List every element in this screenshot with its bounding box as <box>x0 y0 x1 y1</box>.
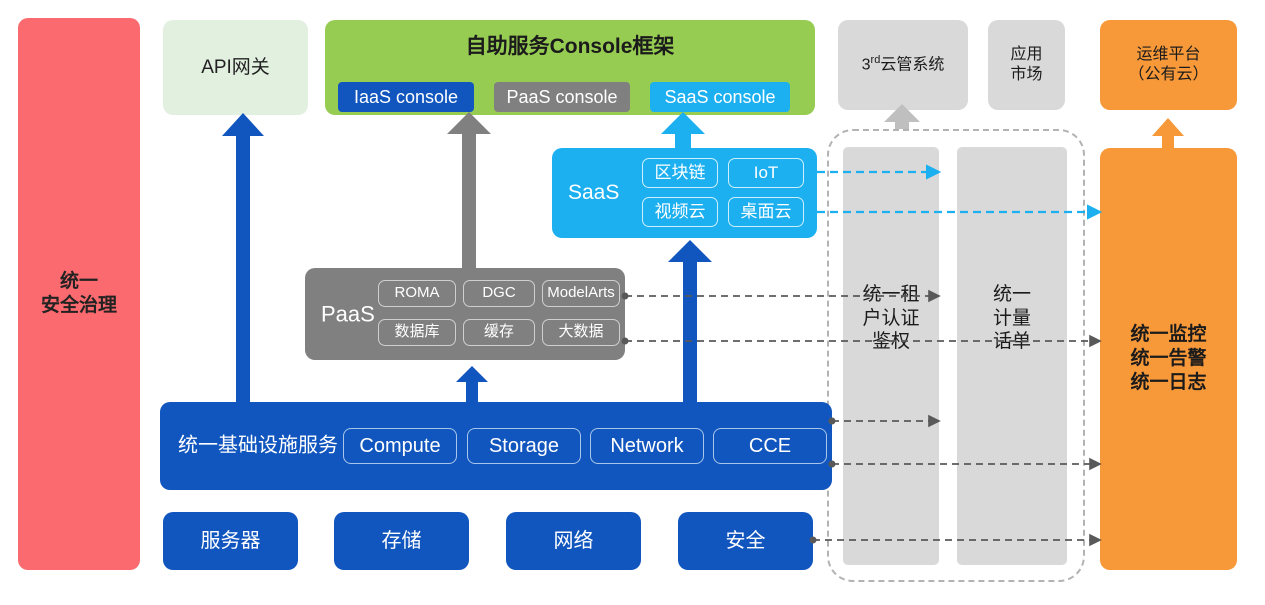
paas-item-database-label: 数据库 <box>394 323 439 342</box>
ops-platform-line-2: （公有云） <box>1128 65 1208 85</box>
hardware-box-storage: 存储 <box>334 512 469 570</box>
arrow-ops-panel-to-platform <box>1152 118 1184 148</box>
paas-console-chip[interactable]: PaaS console <box>494 82 630 112</box>
ops-platform-box: 运维平台 （公有云） <box>1100 20 1237 110</box>
saas-item-blockchain[interactable]: 区块链 <box>642 158 718 188</box>
paas-item-modelarts[interactable]: ModelArts <box>542 280 620 307</box>
security-line-2: 安全治理 <box>41 294 117 318</box>
hardware-box-network: 网络 <box>506 512 641 570</box>
arrow-paas-to-console <box>447 112 491 268</box>
unified-billing-label: 统一 计量 话单 <box>957 283 1067 354</box>
paas-item-dgc-label: DGC <box>482 284 515 303</box>
ops-platform-line-1: 运维平台 <box>1128 45 1208 65</box>
tp-prefix: 3 <box>862 57 871 74</box>
third-party-cloud-mgmt-label: 3rd云管系统 <box>862 54 945 75</box>
saas-layer-label: SaaS <box>568 180 619 206</box>
iaas-item-compute-label: Compute <box>359 434 440 459</box>
hardware-box-security: 安全 <box>678 512 813 570</box>
iaas-item-cce[interactable]: CCE <box>713 428 827 464</box>
security-governance-label: 统一 安全治理 <box>41 270 117 318</box>
hardware-storage-label: 存储 <box>382 529 422 554</box>
saas-console-chip[interactable]: SaaS console <box>650 82 790 112</box>
arrow-iaas-to-paas <box>456 366 488 402</box>
paas-item-bigdata[interactable]: 大数据 <box>542 319 620 346</box>
unified-auth-column <box>843 147 939 565</box>
saas-item-desktop-cloud-label: 桌面云 <box>741 201 792 222</box>
ops-panel-line-2: 统一告警 <box>1130 347 1206 371</box>
iaas-item-cce-label: CCE <box>749 434 791 459</box>
paas-item-cache[interactable]: 缓存 <box>463 319 535 346</box>
paas-item-dgc[interactable]: DGC <box>463 280 535 307</box>
paas-item-roma-label: ROMA <box>395 284 440 303</box>
security-line-1: 统一 <box>41 270 117 294</box>
saas-item-video-cloud-label: 视频云 <box>655 201 706 222</box>
paas-item-cache-label: 缓存 <box>484 323 514 342</box>
ops-monitoring-label: 统一监控 统一告警 统一日志 <box>1130 323 1206 394</box>
console-framework-box: 自助服务Console框架 IaaS console PaaS console … <box>325 20 815 115</box>
paas-layer-label: PaaS <box>321 300 375 328</box>
iaas-item-compute[interactable]: Compute <box>343 428 457 464</box>
hardware-box-server: 服务器 <box>163 512 298 570</box>
saas-item-video-cloud[interactable]: 视频云 <box>642 197 718 227</box>
ops-panel-line-1: 统一监控 <box>1130 323 1206 347</box>
paas-console-label: PaaS console <box>506 86 617 109</box>
iaas-item-network[interactable]: Network <box>590 428 704 464</box>
saas-item-blockchain-label: 区块链 <box>655 162 706 183</box>
security-governance-panel: 统一 安全治理 <box>18 18 140 570</box>
iaas-item-storage[interactable]: Storage <box>467 428 581 464</box>
app-market-label: 应用 市场 <box>1010 45 1042 85</box>
arrow-iaas-to-api-gateway <box>222 113 264 402</box>
iaas-item-network-label: Network <box>610 434 683 459</box>
ops-platform-label: 运维平台 （公有云） <box>1128 45 1208 85</box>
iaas-item-storage-label: Storage <box>489 434 559 459</box>
app-market-box: 应用 市场 <box>988 20 1065 110</box>
billing-line-3: 话单 <box>957 330 1067 354</box>
app-market-line-1: 应用 <box>1010 45 1042 65</box>
iaas-layer-label: 统一基础设施服务 <box>178 434 338 459</box>
saas-layer-box: SaaS 区块链 IoT 视频云 桌面云 <box>552 148 817 238</box>
api-gateway-label: API网关 <box>201 56 270 80</box>
third-party-cloud-mgmt-box: 3rd云管系统 <box>838 20 968 110</box>
saas-console-label: SaaS console <box>664 86 775 109</box>
saas-item-desktop-cloud[interactable]: 桌面云 <box>728 197 804 227</box>
ops-panel-line-3: 统一日志 <box>1130 371 1206 395</box>
arrow-iaas-to-saas <box>668 240 712 402</box>
hardware-server-label: 服务器 <box>201 529 261 554</box>
saas-item-iot-label: IoT <box>754 162 779 183</box>
console-framework-title: 自助服务Console框架 <box>325 34 815 60</box>
auth-line-1: 统一租 <box>843 283 939 307</box>
paas-item-modelarts-label: ModelArts <box>547 284 615 303</box>
tp-suffix: 云管系统 <box>880 57 944 74</box>
hardware-security-label: 安全 <box>726 529 766 554</box>
architecture-diagram: 统一 安全治理 API网关 自助服务Console框架 IaaS console… <box>0 0 1265 605</box>
paas-item-roma[interactable]: ROMA <box>378 280 456 307</box>
iaas-console-label: IaaS console <box>354 86 458 109</box>
hardware-network-label: 网络 <box>554 529 594 554</box>
paas-layer-box: PaaS ROMA DGC ModelArts 数据库 缓存 大数据 <box>305 268 625 360</box>
iaas-console-chip[interactable]: IaaS console <box>338 82 474 112</box>
unified-auth-label: 统一租 户认证 鉴权 <box>843 283 939 354</box>
arrow-saas-to-console <box>661 112 705 148</box>
auth-line-3: 鉴权 <box>843 330 939 354</box>
billing-line-2: 计量 <box>957 307 1067 331</box>
tp-sup: rd <box>871 54 881 66</box>
iaas-layer-box: 统一基础设施服务 Compute Storage Network CCE <box>160 402 832 490</box>
auth-line-2: 户认证 <box>843 307 939 331</box>
app-market-line-2: 市场 <box>1010 65 1042 85</box>
paas-item-database[interactable]: 数据库 <box>378 319 456 346</box>
billing-line-1: 统一 <box>957 283 1067 307</box>
unified-billing-column <box>957 147 1067 565</box>
api-gateway-box: API网关 <box>163 20 308 115</box>
ops-monitoring-panel: 统一监控 统一告警 统一日志 <box>1100 148 1237 570</box>
saas-item-iot[interactable]: IoT <box>728 158 804 188</box>
paas-item-bigdata-label: 大数据 <box>558 323 603 342</box>
